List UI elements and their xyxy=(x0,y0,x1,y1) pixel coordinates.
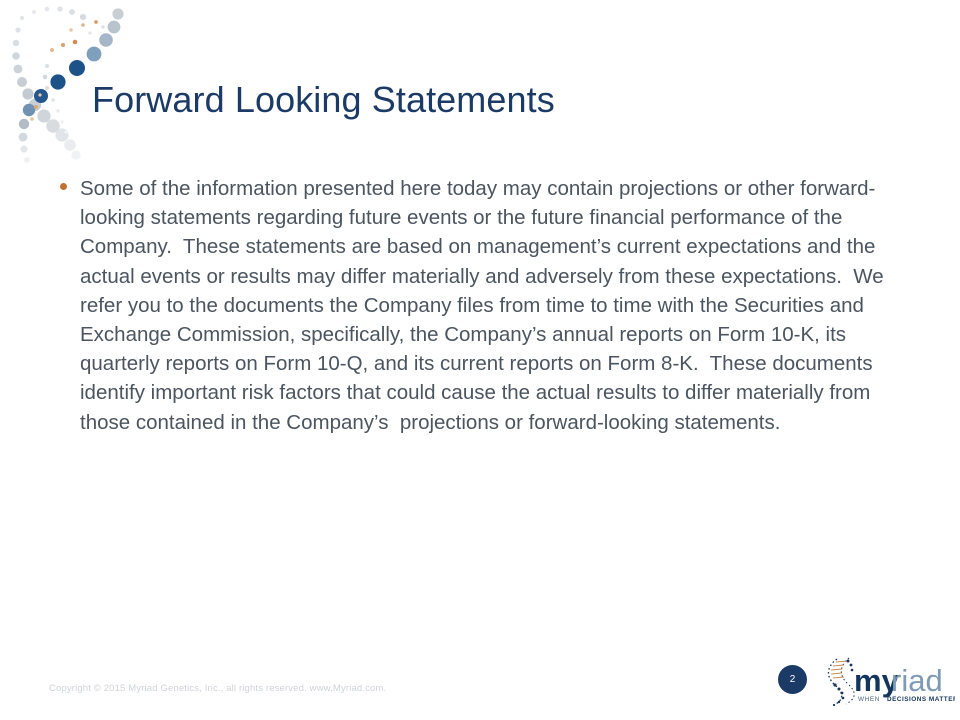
myriad-logo: my riad WHEN DECISIONS MATTER xyxy=(815,655,955,707)
logo-word-riad: riad xyxy=(891,663,943,698)
bullet-dot-icon xyxy=(60,183,67,190)
slide-title-row: Forward Looking Statements xyxy=(92,72,555,128)
forward-looking-statement-paragraph: Some of the information presented here t… xyxy=(80,174,916,437)
logo-tagline-when: WHEN xyxy=(858,696,880,703)
list-item: Some of the information presented here t… xyxy=(56,174,916,437)
page-number-badge: 2 xyxy=(778,665,807,694)
presentation-slide: Forward Looking Statements Some of the i… xyxy=(0,0,960,720)
slide-body-content: Some of the information presented here t… xyxy=(56,174,916,437)
footer-copyright-text: Copyright © 2015 Myriad Genetics, Inc., … xyxy=(49,683,386,694)
logo-tagline-decisions-matter: DECISIONS MATTER xyxy=(887,696,955,703)
dna-helix-icon xyxy=(828,658,854,706)
page-title: Forward Looking Statements xyxy=(92,80,555,120)
